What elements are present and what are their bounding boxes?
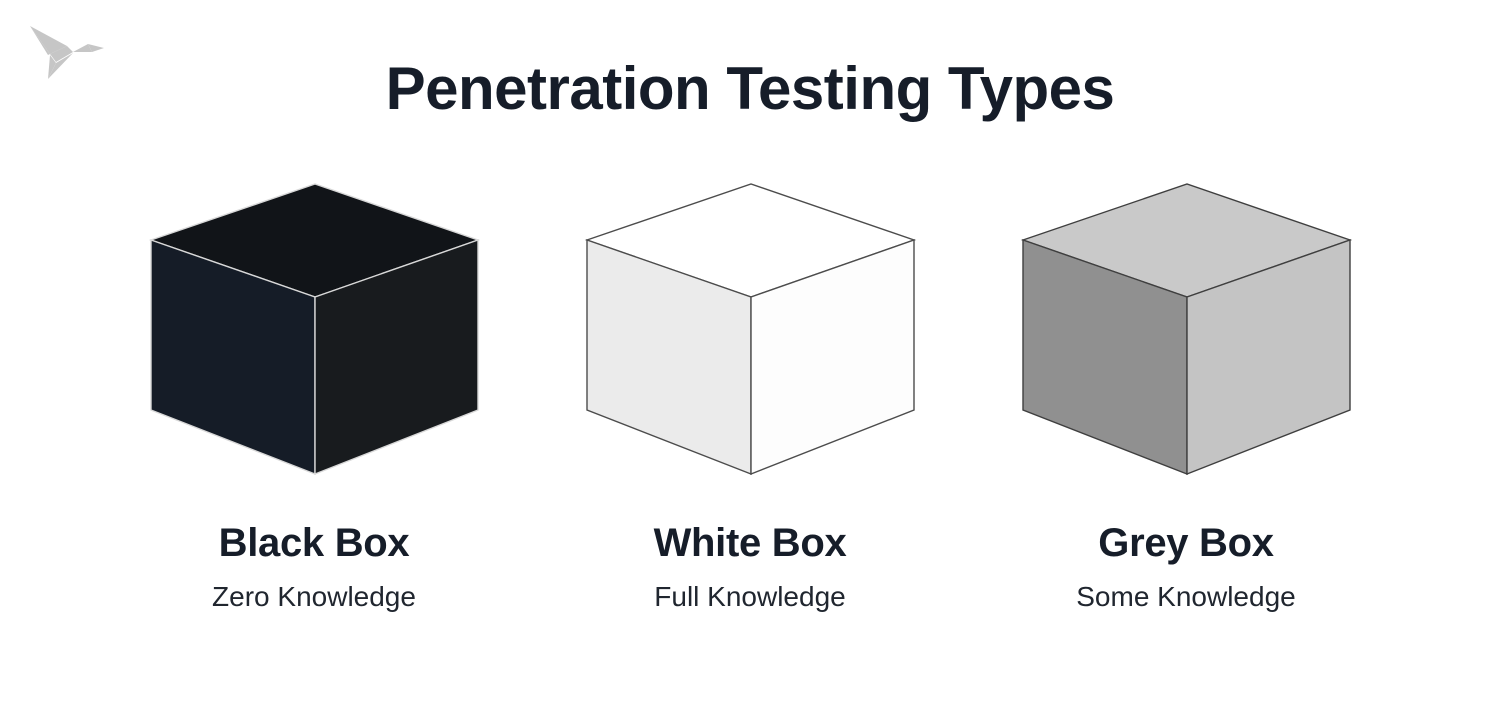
grey-cube-figure: [968, 160, 1404, 490]
card-subtitle-white-box: Full Knowledge: [532, 580, 968, 614]
white-cube-figure: [532, 160, 968, 490]
card-subtitle-grey-box: Some Knowledge: [968, 580, 1404, 614]
card-grey-box: Grey Box Some Knowledge: [968, 160, 1404, 660]
card-subtitle-black-box: Zero Knowledge: [96, 580, 532, 614]
card-black-box: Black Box Zero Knowledge: [96, 160, 532, 660]
card-title-black-box: Black Box: [96, 520, 532, 566]
cards-row: Black Box Zero Knowledge White Box Full …: [0, 0, 1500, 715]
black-cube-figure: [96, 160, 532, 490]
card-white-box: White Box Full Knowledge: [532, 160, 968, 660]
infographic-canvas: Penetration Testing Types Black Box Zero…: [0, 0, 1500, 715]
card-title-white-box: White Box: [532, 520, 968, 566]
card-title-grey-box: Grey Box: [968, 520, 1404, 566]
